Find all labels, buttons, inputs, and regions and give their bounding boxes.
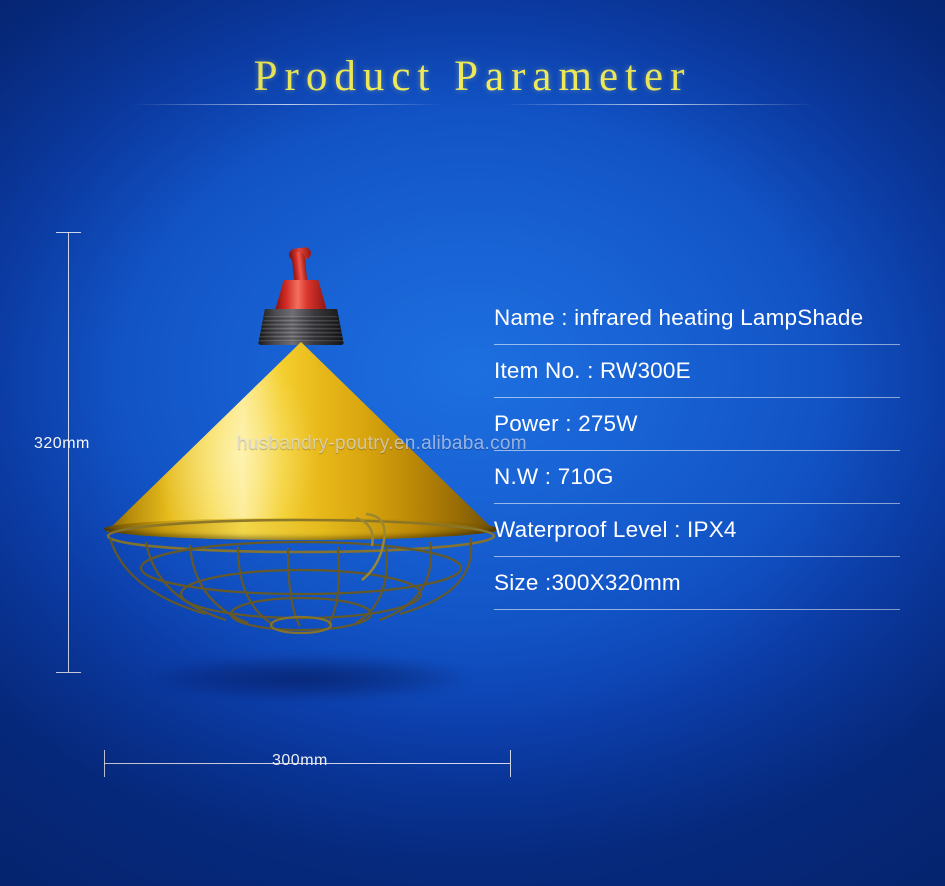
width-dimension-cap-left bbox=[104, 750, 105, 777]
spec-row-power: Power : 275W bbox=[494, 398, 900, 451]
width-dimension-cap-right bbox=[510, 750, 511, 777]
width-dimension-label: 300mm bbox=[272, 752, 328, 770]
specification-list: Name : infrared heating LampShade Item N… bbox=[494, 292, 900, 610]
spec-row-size: Size :300X320mm bbox=[494, 557, 900, 610]
wire-guard-cage bbox=[98, 246, 518, 676]
watermark-text: husbandry-poutry.en.alibaba.com bbox=[237, 433, 527, 455]
spec-row-waterproof: Waterproof Level : IPX4 bbox=[494, 504, 900, 557]
spec-row-net-weight: N.W : 710G bbox=[494, 451, 900, 504]
title-rule-right bbox=[505, 104, 815, 105]
spec-row-name: Name : infrared heating LampShade bbox=[494, 292, 900, 345]
page-title: Product Parameter bbox=[254, 53, 692, 100]
spec-row-item-no: Item No. : RW300E bbox=[494, 345, 900, 398]
title-rule-left bbox=[132, 104, 442, 105]
page-title-block: Product Parameter bbox=[0, 52, 945, 101]
height-dimension-cap-bottom bbox=[56, 672, 81, 673]
product-image bbox=[98, 246, 518, 676]
height-dimension-cap-top bbox=[56, 232, 81, 233]
height-dimension-label: 320mm bbox=[34, 435, 90, 453]
product-parameter-banner: Product Parameter bbox=[0, 0, 945, 886]
